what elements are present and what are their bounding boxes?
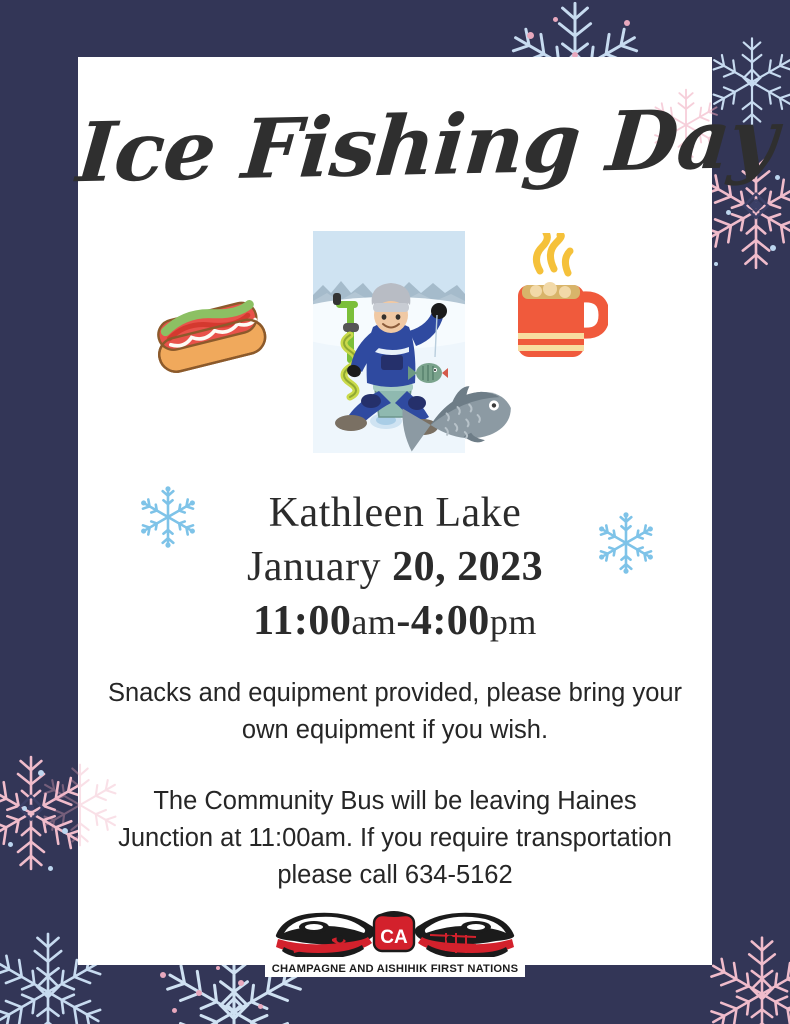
snow-dot xyxy=(258,1004,263,1009)
hot-cocoa-mug-icon xyxy=(496,233,608,370)
event-details: Kathleen Lake January 20, 2023 11:00am-4… xyxy=(78,487,712,648)
event-time: 11:00am-4:00pm xyxy=(78,595,712,649)
event-date: January 20, 2023 xyxy=(78,541,712,595)
body-copy: Snacks and equipment provided, please br… xyxy=(106,675,684,894)
snow-dot xyxy=(38,770,44,776)
snow-dot xyxy=(160,972,166,978)
first-nations-formline-art: CA xyxy=(270,905,520,957)
hotdog-icon xyxy=(146,285,274,394)
event-venue: Kathleen Lake xyxy=(78,487,712,541)
organization-logo: CA xyxy=(265,905,525,977)
poster-canvas: Ice Fishing Day xyxy=(0,0,790,1024)
snow-dot xyxy=(62,828,68,834)
snow-dot xyxy=(48,866,53,871)
date-daynum: 20, 2023 xyxy=(392,544,543,590)
fish-icon xyxy=(400,375,518,468)
artwork-row xyxy=(78,225,712,475)
time-start: 11:00 xyxy=(253,598,351,644)
snow-dot xyxy=(172,1008,177,1013)
snow-dot xyxy=(775,175,780,180)
date-month: January xyxy=(247,544,392,590)
paragraph-transport: The Community Bus will be leaving Haines… xyxy=(106,783,684,894)
snow-dot xyxy=(624,20,630,26)
snow-dot xyxy=(770,245,776,251)
time-end-suffix: pm xyxy=(490,602,537,642)
snow-dot xyxy=(196,990,202,996)
poster-card: Ice Fishing Day xyxy=(78,57,712,965)
snow-dot xyxy=(8,842,13,847)
poster-title: Ice Fishing Day xyxy=(74,98,780,195)
paragraph-snacks: Snacks and equipment provided, please br… xyxy=(106,675,684,749)
snow-dot xyxy=(238,980,244,986)
time-start-suffix: am xyxy=(351,602,396,642)
snow-dot xyxy=(714,262,718,266)
snow-dot xyxy=(22,806,27,811)
snow-dot xyxy=(553,17,558,22)
title-block: Ice Fishing Day xyxy=(78,105,712,187)
snow-dot xyxy=(527,32,534,39)
snow-dot xyxy=(726,210,731,215)
logo-caption: CHAMPAGNE AND AISHIHIK FIRST NATIONS xyxy=(265,963,525,975)
snow-dot xyxy=(216,966,220,970)
time-end: 4:00 xyxy=(411,598,490,644)
svg-text:CA: CA xyxy=(380,927,408,948)
time-dash: - xyxy=(396,598,411,644)
